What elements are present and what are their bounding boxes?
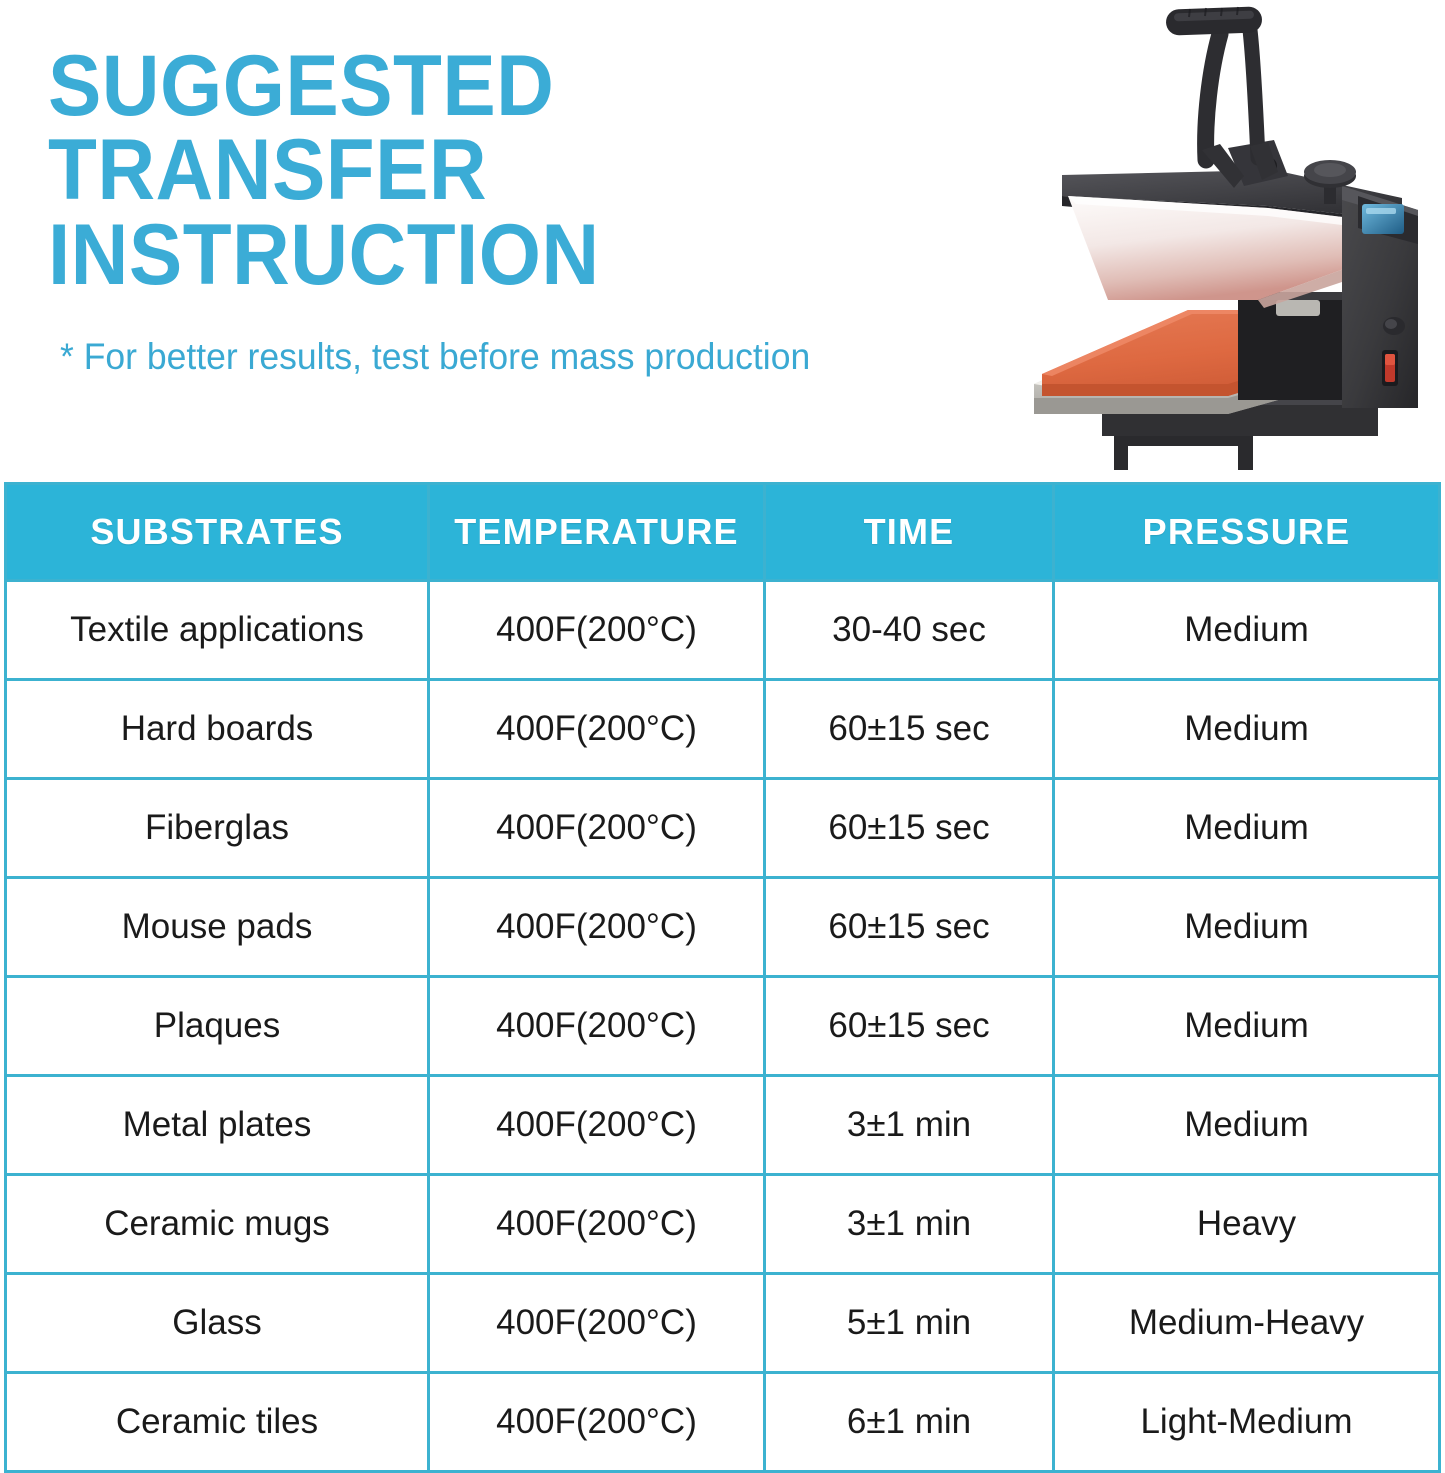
table-row: Plaques 400F(200°C) 60±15 sec Medium: [6, 977, 1440, 1076]
table-row: Glass 400F(200°C) 5±1 min Medium-Heavy: [6, 1274, 1440, 1373]
heading-block: SUGGESTED TRANSFER INSTRUCTION: [48, 44, 1008, 297]
cell-pressure: Medium: [1054, 977, 1440, 1076]
spec-table: SUBSTRATES TEMPERATURE TIME PRESSURE Tex…: [4, 482, 1441, 1473]
cell-temperature: 400F(200°C): [429, 779, 765, 878]
cell-pressure: Heavy: [1054, 1175, 1440, 1274]
digital-control-panel: [1342, 186, 1418, 408]
cell-time: 60±15 sec: [765, 878, 1054, 977]
cell-substrate: Glass: [6, 1274, 429, 1373]
cell-time: 6±1 min: [765, 1373, 1054, 1472]
cell-substrate: Textile applications: [6, 581, 429, 680]
column-header-substrates: SUBSTRATES: [6, 484, 429, 581]
swing-handle: [1206, 28, 1258, 160]
cell-temperature: 400F(200°C): [429, 1175, 765, 1274]
handle-grip: [1166, 6, 1263, 35]
table-row: Fiberglas 400F(200°C) 60±15 sec Medium: [6, 779, 1440, 878]
cell-pressure: Light-Medium: [1054, 1373, 1440, 1472]
column-header-pressure: PRESSURE: [1054, 484, 1440, 581]
table-row: Ceramic mugs 400F(200°C) 3±1 min Heavy: [6, 1175, 1440, 1274]
column-header-time: TIME: [765, 484, 1054, 581]
cell-substrate: Mouse pads: [6, 878, 429, 977]
cell-substrate: Plaques: [6, 977, 429, 1076]
cell-substrate: Ceramic tiles: [6, 1373, 429, 1472]
cell-temperature: 400F(200°C): [429, 1373, 765, 1472]
transfer-instruction-table: SUBSTRATES TEMPERATURE TIME PRESSURE Tex…: [4, 482, 1438, 1441]
subtitle-note: * For better results, test before mass p…: [60, 335, 810, 379]
table-row: Hard boards 400F(200°C) 60±15 sec Medium: [6, 680, 1440, 779]
cell-time: 60±15 sec: [765, 779, 1054, 878]
cell-time: 60±15 sec: [765, 680, 1054, 779]
table-row: Ceramic tiles 400F(200°C) 6±1 min Light-…: [6, 1373, 1440, 1472]
page-title: SUGGESTED TRANSFER INSTRUCTION: [48, 44, 941, 297]
cell-pressure: Medium-Heavy: [1054, 1274, 1440, 1373]
column-header-temperature: TEMPERATURE: [429, 484, 765, 581]
cell-pressure: Medium: [1054, 680, 1440, 779]
cell-time: 3±1 min: [765, 1175, 1054, 1274]
cell-pressure: Medium: [1054, 581, 1440, 680]
table-row: Metal plates 400F(200°C) 3±1 min Medium: [6, 1076, 1440, 1175]
cell-time: 30-40 sec: [765, 581, 1054, 680]
cell-pressure: Medium: [1054, 1076, 1440, 1175]
table-row: Mouse pads 400F(200°C) 60±15 sec Medium: [6, 878, 1440, 977]
cell-temperature: 400F(200°C): [429, 581, 765, 680]
cell-pressure: Medium: [1054, 779, 1440, 878]
cell-substrate: Metal plates: [6, 1076, 429, 1175]
table-row: Textile applications 400F(200°C) 30-40 s…: [6, 581, 1440, 680]
cell-time: 5±1 min: [765, 1274, 1054, 1373]
cell-substrate: Fiberglas: [6, 779, 429, 878]
cell-substrate: Hard boards: [6, 680, 429, 779]
cell-temperature: 400F(200°C): [429, 1274, 765, 1373]
cell-temperature: 400F(200°C): [429, 680, 765, 779]
cell-substrate: Ceramic mugs: [6, 1175, 429, 1274]
table-header-row: SUBSTRATES TEMPERATURE TIME PRESSURE: [6, 484, 1440, 581]
red-power-switch: [1382, 350, 1398, 386]
cell-temperature: 400F(200°C): [429, 878, 765, 977]
side-knob: [1383, 317, 1405, 335]
cell-time: 3±1 min: [765, 1076, 1054, 1175]
cell-temperature: 400F(200°C): [429, 977, 765, 1076]
heat-press-machine-image: [1006, 0, 1445, 482]
cell-time: 60±15 sec: [765, 977, 1054, 1076]
cell-temperature: 400F(200°C): [429, 1076, 765, 1175]
cell-pressure: Medium: [1054, 878, 1440, 977]
